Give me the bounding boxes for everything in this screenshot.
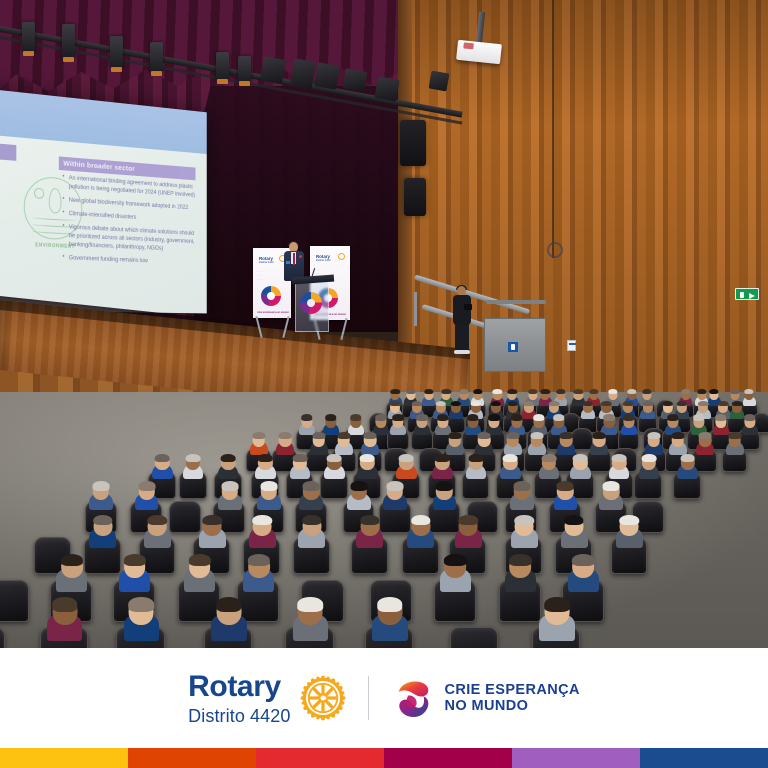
rotary-theme-swirl-icon [261, 286, 281, 306]
audience-member-hair [470, 401, 480, 407]
audience-member-hair [260, 481, 277, 490]
audience-member [144, 516, 171, 548]
audience-member-hair [435, 454, 450, 462]
audience-member-hair [524, 401, 534, 407]
audience-member-hair [623, 401, 633, 407]
slide-left-fragment: al [0, 231, 22, 240]
audience-member-hair [248, 554, 270, 566]
auditorium-seat [0, 580, 29, 622]
audience-member-hair [221, 481, 238, 490]
wheelchair-accessible-icon [508, 342, 518, 352]
audience-member [56, 555, 87, 592]
theme-line-2: NO MUNDO [445, 698, 580, 714]
audience-member-hair [473, 389, 482, 394]
rotary-wheel-icon [338, 253, 345, 260]
audience-member [677, 455, 698, 480]
audience-member-hair [435, 401, 445, 407]
audience-member [293, 598, 329, 641]
audience-member-hair [363, 432, 376, 439]
audience-member-hair [560, 432, 573, 439]
audience-member [669, 433, 687, 455]
brand-color-bar [0, 748, 768, 768]
audience-member-hair [350, 414, 362, 420]
rotary-wordmark: Rotary Distrito 4420 [188, 672, 290, 725]
audience-member [742, 415, 758, 434]
audience-member [218, 482, 242, 510]
audience-member-hair [608, 389, 617, 394]
audience-member-hair [647, 432, 660, 439]
audience-member [696, 433, 714, 455]
audience-member [432, 455, 453, 480]
audience-member [645, 433, 663, 455]
audience-member [433, 482, 457, 510]
stage-light-icon [342, 68, 367, 92]
audience-member-hair [509, 554, 531, 566]
stage-light-icon [260, 56, 286, 83]
audience-member [348, 415, 364, 434]
audience-member [570, 455, 591, 480]
audience-member [504, 433, 522, 455]
audience-member-hair [123, 554, 145, 566]
audience-member [446, 433, 464, 455]
audience-member-hair [93, 481, 110, 490]
color-bar-red [256, 748, 384, 768]
audience-member-hair [155, 454, 170, 462]
audience-member-hair [680, 454, 695, 462]
theme-line-1: CRIE ESPERANÇA [445, 682, 580, 698]
audience-member-hair [667, 414, 679, 420]
audience-member-hair [436, 481, 453, 490]
audience-member [486, 415, 502, 434]
audience-member [554, 482, 578, 510]
audience-member-hair [593, 432, 606, 439]
audience-member [407, 516, 434, 548]
audience-member-hair [612, 454, 627, 462]
audience-member-hair [406, 389, 415, 394]
audience-member [299, 482, 323, 510]
rotary-theme-swirl-icon [300, 292, 322, 314]
audience-member [290, 455, 311, 480]
audience-member [211, 598, 247, 641]
audience-member-hair [442, 389, 451, 394]
audience-member-hair [549, 401, 559, 407]
color-bar-orange [128, 748, 256, 768]
audience-member [528, 433, 546, 455]
audience-member-hair [641, 454, 656, 462]
audience-member [599, 482, 623, 510]
hanging-cable [552, 0, 554, 258]
event-photo-card: IS 22- pital e — al ENVIRONMENT Within b… [0, 0, 768, 768]
crew-trousers [455, 324, 469, 350]
audience-member-hair [620, 515, 639, 526]
rotary-name: Rotary [188, 672, 281, 702]
audience-member-hair [573, 454, 588, 462]
audience-member [250, 433, 268, 455]
audience-member [422, 390, 435, 406]
auditorium-seat [169, 501, 201, 533]
audience-member-hair [312, 432, 325, 439]
slide-bullet-list: An international binding agreement to ad… [62, 174, 198, 272]
banner-footer: CRIE ESPERANÇA NO MUNDO [257, 312, 289, 314]
audience-member [465, 415, 481, 434]
audience-member [730, 402, 745, 419]
audience-member [713, 415, 729, 434]
lift-guardrail [486, 300, 546, 304]
audience-member-hair [718, 401, 728, 407]
theme-lockup: CRIE ESPERANÇA NO MUNDO [391, 676, 580, 720]
stage-light-icon [150, 42, 163, 72]
audience-member-hair [278, 432, 291, 439]
audience-member [590, 433, 608, 455]
audience-member-hair [325, 414, 337, 420]
audience-member-hair [93, 515, 112, 526]
audience-member-hair [697, 389, 706, 394]
theme-wordmark: CRIE ESPERANÇA NO MUNDO [445, 682, 580, 714]
audience-member-hair [572, 554, 594, 566]
audience-member-hair [601, 401, 611, 407]
audience-member-hair [391, 389, 400, 394]
event-photograph: IS 22- pital e — al ENVIRONMENT Within b… [0, 0, 768, 648]
audience-member-hair [623, 414, 635, 420]
audience-member-hair [61, 554, 83, 566]
camera-icon [464, 304, 472, 310]
audience-member-hair [459, 515, 478, 526]
audience-member [568, 555, 599, 592]
audience-member-hair [444, 554, 466, 566]
presenter-badge [286, 261, 290, 264]
audience-member-hair [360, 454, 375, 462]
audience-member-hair [715, 414, 727, 420]
audience-member [135, 482, 159, 510]
audience-member [199, 516, 226, 548]
audience-member-hair [375, 414, 387, 420]
audience-member [47, 598, 83, 641]
audience-member [581, 402, 596, 419]
audience-member-hair [642, 389, 651, 394]
audience-member-hair [293, 454, 308, 462]
rotary-district: Distrito 4420 [188, 707, 290, 725]
color-bar-azure [640, 748, 768, 768]
audience-member-hair [459, 389, 468, 394]
audience-member [449, 402, 464, 419]
audience-member-hair [506, 432, 519, 439]
audience-member-hair [541, 389, 550, 394]
stage-light-icon [22, 22, 35, 52]
audience-member-hair [337, 432, 350, 439]
stage-light-icon [62, 24, 75, 58]
audience-member-hair [513, 481, 530, 490]
audience-member-hair [377, 597, 403, 611]
crew-shirt [453, 295, 471, 325]
audience-member-hair [186, 454, 201, 462]
audience-member-hair [533, 414, 545, 420]
slide-left-column: 22- pital e — al [0, 167, 22, 253]
audience-member-hair [416, 414, 428, 420]
audience-member-hair [203, 515, 222, 526]
audience-member-hair [493, 389, 502, 394]
audience-member [505, 555, 536, 592]
audience-member [373, 415, 389, 434]
rotary-lockup: Rotary Distrito 4420 [188, 672, 345, 725]
crew-shoes [454, 350, 470, 354]
audience-member-hair [744, 414, 756, 420]
audience-member-hair [589, 389, 598, 394]
projection-screen: IS 22- pital e — al ENVIRONMENT Within b… [0, 88, 207, 313]
slide-left-fragment: e — [0, 210, 22, 220]
color-bar-gold [0, 748, 128, 768]
banner-subtitle: Distrito 4420 [316, 259, 331, 262]
brand-footer: Rotary Distrito 4420 [0, 648, 768, 748]
audience-member [726, 433, 744, 455]
audience-member-hair [508, 389, 517, 394]
audience-member [475, 433, 493, 455]
slide-left-fragment: 22- [0, 167, 22, 178]
audience-member-hair [541, 454, 556, 462]
audience-member [124, 598, 160, 641]
audience-member-hair [488, 414, 500, 420]
audience-member-hair [390, 401, 400, 407]
audience-member-hair [387, 481, 404, 490]
presenter-tie [293, 253, 295, 265]
audience-member-hair [491, 401, 501, 407]
audience-member-hair [528, 389, 537, 394]
audience-member [249, 516, 276, 548]
color-bar-cranberry [384, 748, 512, 768]
exit-sign-icon [735, 288, 759, 300]
audience-member [616, 516, 643, 548]
audience-member [335, 433, 353, 455]
audience-member-hair [709, 389, 718, 394]
audience-member-hair [728, 432, 741, 439]
audience-member-hair [412, 401, 422, 407]
audience-member [119, 555, 150, 592]
audience-member-hair [360, 515, 379, 526]
audience-member [743, 390, 756, 406]
audience-member [310, 433, 328, 455]
banner-subtitle: Distrito 4420 [259, 261, 274, 264]
audience-member-hair [399, 454, 414, 462]
audience-member [383, 482, 407, 510]
audience-member [500, 455, 521, 480]
slide-bullet: Government funding remains low [62, 254, 198, 268]
audience-member [218, 455, 239, 480]
audience-member-hair [604, 414, 616, 420]
audience-member-hair [467, 414, 479, 420]
audience-member-hair [351, 481, 368, 490]
audience-member-hair [663, 401, 673, 407]
audience-member-hair [448, 432, 461, 439]
audience-member [361, 433, 379, 455]
audience-member-hair [302, 515, 321, 526]
audience-member-hair [52, 597, 78, 611]
audience-member-hair [188, 554, 210, 566]
audience-member-hair [221, 454, 236, 462]
audience-member [440, 555, 471, 592]
sun-icon [34, 188, 44, 199]
audience-member [390, 415, 406, 434]
audience-member-hair [478, 432, 491, 439]
audience-member [255, 455, 276, 480]
audience-member [356, 516, 383, 548]
audience-member-hair [411, 515, 430, 526]
audience-member-hair [511, 414, 523, 420]
audience-member-hair [451, 401, 461, 407]
slide-section-heading: Within broader sector [63, 159, 135, 173]
audience-member [89, 482, 113, 510]
audience-member-hair [564, 515, 583, 526]
audience-member [396, 455, 417, 480]
presenter-lapel-pin [299, 255, 302, 258]
audience-member-hair [699, 432, 712, 439]
auditorium-seat [450, 627, 498, 648]
audience-member [561, 516, 588, 548]
audience-member-hair [557, 481, 574, 490]
audience-member [298, 516, 325, 548]
audience-member-hair [503, 454, 518, 462]
stage-light-icon [110, 36, 123, 68]
stage-light-icon [238, 56, 251, 82]
audience-member-hair [583, 401, 593, 407]
audience-member-hair [515, 515, 534, 526]
audience-member-hair [138, 481, 155, 490]
handrail-post [414, 292, 417, 326]
wall-notice-sign [567, 340, 576, 351]
pa-speaker-icon [400, 120, 426, 166]
audience-member-hair [603, 481, 620, 490]
audience-member [455, 516, 482, 548]
audience-member-hair [301, 414, 313, 420]
audience-member [435, 415, 451, 434]
audience-member-hair [530, 432, 543, 439]
audience-member [372, 598, 408, 641]
audience-member-hair [681, 389, 690, 394]
stage-light-icon [216, 52, 229, 80]
audience-member-hair [730, 389, 739, 394]
audience-member-hair [148, 515, 167, 526]
audience-member-hair [508, 401, 518, 407]
audience-member-hair [677, 401, 687, 407]
footer-divider [368, 676, 369, 720]
pa-speaker-icon [404, 178, 426, 216]
audience-member-hair [553, 414, 565, 420]
audience-member [299, 415, 315, 434]
audience-member [184, 555, 215, 592]
audience-member-hair [303, 481, 320, 490]
rotary-wheel-icon [300, 675, 346, 721]
audience-member-hair [424, 389, 433, 394]
audience-member [324, 455, 345, 480]
audience-member [639, 455, 660, 480]
audience-member [152, 455, 173, 480]
audience-member [347, 482, 371, 510]
audience-member [276, 433, 294, 455]
audience-member [414, 415, 430, 434]
audience-member-hair [253, 515, 272, 526]
audience-member-hair [643, 401, 653, 407]
slide-accent-chip [0, 141, 16, 161]
audience-member-hair [327, 454, 342, 462]
audience-member [466, 455, 487, 480]
audience-member-hair [128, 597, 154, 611]
standing-crew-member [452, 286, 472, 354]
audience-member [621, 415, 637, 434]
banner-body-text: · · · · ·· · · ·· · · · · [257, 270, 264, 282]
audience-member [539, 455, 560, 480]
audience-member [601, 415, 617, 434]
audience-member [609, 455, 630, 480]
audience-member [89, 516, 116, 548]
audience-member [243, 555, 274, 592]
stage-light-icon [374, 76, 399, 101]
audience-member-hair [298, 597, 324, 611]
audience-member-hair [556, 389, 565, 394]
audience-member-hair [732, 401, 742, 407]
stage-light-icon [314, 62, 340, 89]
slide-bullet: Vigorous debate about which climate solu… [62, 223, 198, 255]
rotary-theme-swirl-icon [391, 676, 435, 720]
audience-member [640, 402, 655, 419]
audience-member-hair [693, 414, 705, 420]
audience-member-hair [216, 597, 242, 611]
audience-member [557, 433, 575, 455]
audience-member-hair [437, 414, 449, 420]
audience-member-hair [252, 432, 265, 439]
audience-member [323, 415, 339, 434]
audience-member-hair [698, 401, 708, 407]
audience-member [357, 455, 378, 480]
slide-left-fragment: pital [0, 188, 22, 198]
audience-member-hair [258, 454, 273, 462]
stage-light-icon [429, 71, 450, 92]
audience-member-hair [468, 454, 483, 462]
banner-stand [255, 316, 289, 338]
audience-member-hair [392, 414, 404, 420]
audience-member-hair [544, 597, 570, 611]
leaf-icon [49, 188, 62, 214]
audience-member [183, 455, 204, 480]
audience-member [257, 482, 281, 510]
audience-member [511, 516, 538, 548]
audience-member [539, 598, 575, 641]
audience-member-hair [627, 389, 636, 394]
audience-member-hair [574, 389, 583, 394]
audience-member-hair [744, 389, 753, 394]
audience-member-hair [671, 432, 684, 439]
audience-member [510, 482, 534, 510]
color-bar-violet [512, 748, 640, 768]
